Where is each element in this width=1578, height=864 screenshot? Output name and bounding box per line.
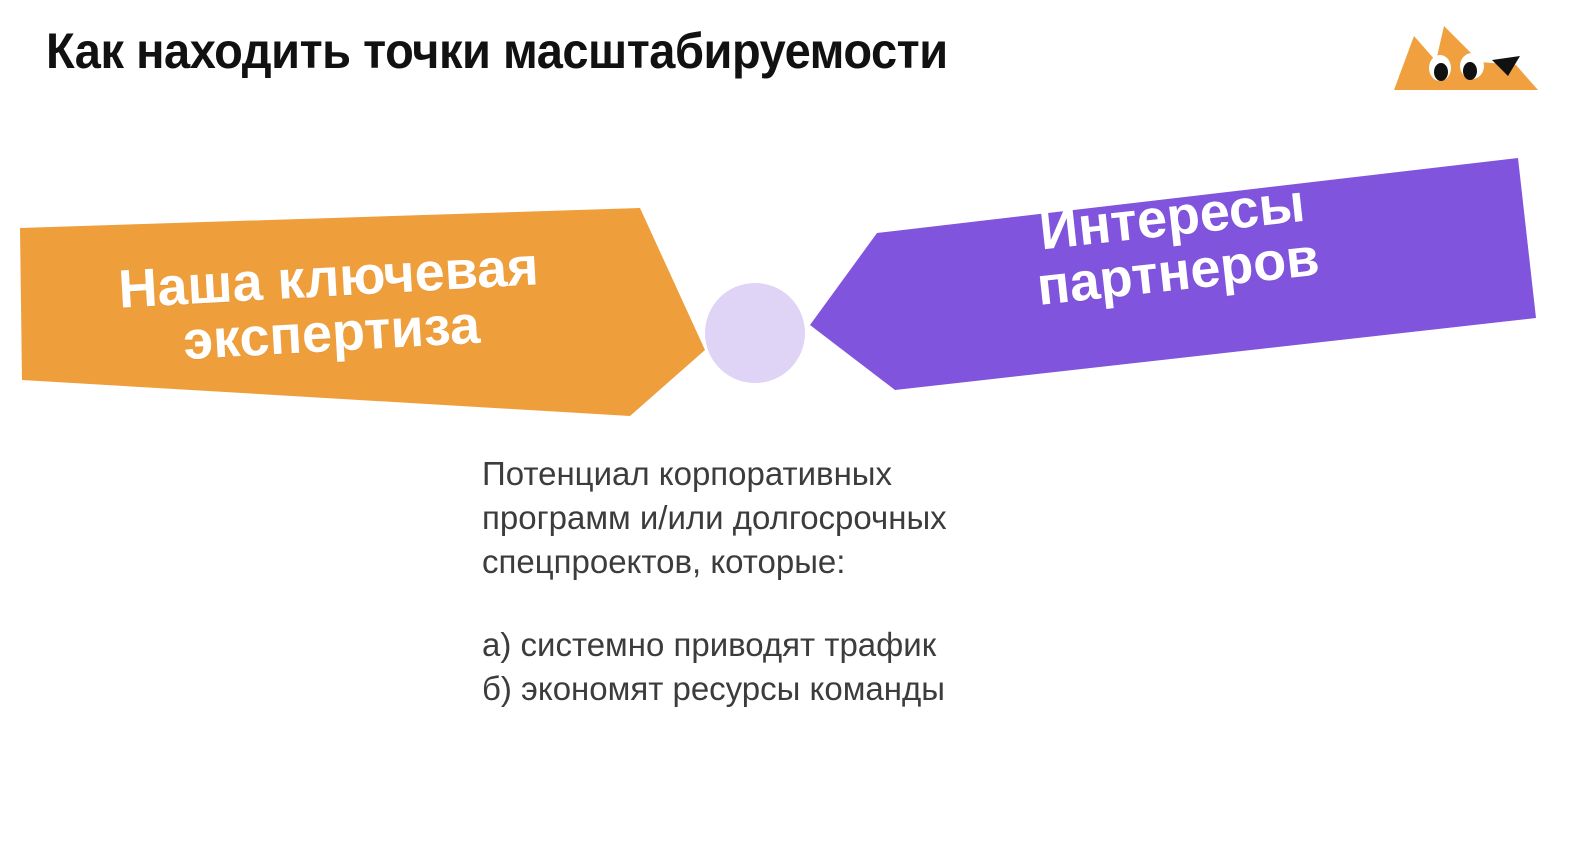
fox-left-pupil: [1434, 63, 1448, 81]
list-item: б) экономят ресурсы команды: [482, 667, 1082, 711]
body-copy: Потенциал корпоративных программ и/или д…: [482, 452, 1082, 711]
center-node-circle: [705, 283, 805, 383]
fox-logo: [1388, 18, 1538, 90]
body-intro-text: Потенциал корпоративных программ и/или д…: [482, 452, 1082, 585]
body-list: а) системно приводят трафик б) экономят …: [482, 623, 1082, 711]
fox-right-pupil: [1463, 62, 1477, 80]
convergence-diagram: Наша ключевая экспертиза Интересы партне…: [0, 120, 1578, 450]
fox-logo-icon: [1388, 18, 1538, 90]
page-title: Как находить точки масштабируемости: [46, 22, 948, 80]
slide-canvas: Как находить точки масштабируемости Наша…: [0, 0, 1578, 864]
list-item: а) системно приводят трафик: [482, 623, 1082, 667]
